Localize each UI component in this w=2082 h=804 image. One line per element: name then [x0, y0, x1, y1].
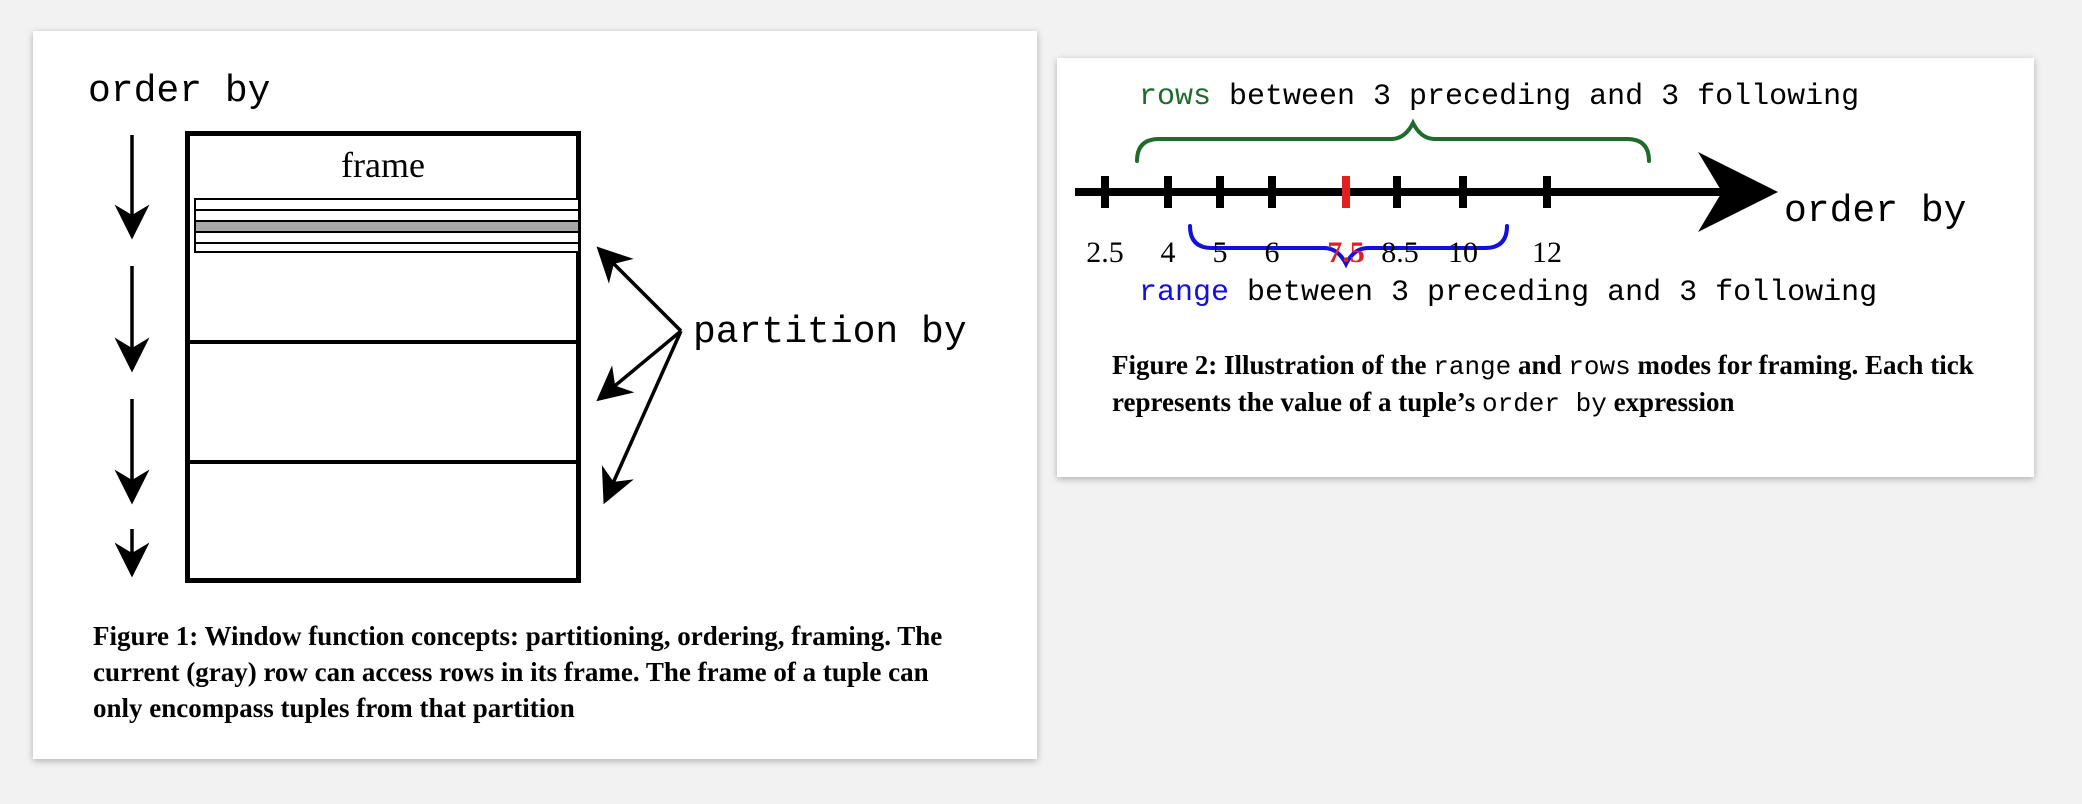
tick-label: 12 [1532, 236, 1562, 270]
partition-by-label: partition by [693, 311, 967, 354]
frame-row [194, 231, 580, 242]
figure1-card: order by frame [33, 31, 1037, 759]
frame-row [194, 198, 580, 209]
frame-row [194, 242, 580, 253]
tick-label: 4 [1161, 236, 1176, 270]
figure2-card: rows between 3 preceding and 3 following… [1057, 58, 2034, 477]
frame-row [194, 209, 580, 220]
caption-text-span: and [1511, 350, 1568, 380]
tick-label-current: 7.5 [1327, 236, 1365, 270]
partition-box: frame [185, 131, 581, 583]
caption-code-span: rows [1568, 352, 1630, 382]
current-row [194, 220, 580, 231]
frame-row-stack [194, 198, 580, 253]
partition-divider [190, 340, 576, 344]
caption-text-span: expression [1607, 387, 1735, 417]
tick-label: 10 [1448, 236, 1478, 270]
figure1-caption: Figure 1: Window function concepts: part… [93, 619, 983, 727]
caption-code-span: order by [1482, 389, 1607, 419]
frame-label: frame [190, 144, 576, 186]
tick-label: 5 [1213, 236, 1228, 270]
tick-label: 2.5 [1086, 236, 1124, 270]
rows-brace [1137, 123, 1649, 161]
caption-text-span: Figure 2: Illustration of the [1112, 350, 1433, 380]
partition-divider [190, 460, 576, 464]
partition-by-arrows [599, 249, 681, 501]
figure2-caption: Figure 2: Illustration of the range and … [1112, 348, 1992, 421]
tick-label: 8.5 [1381, 236, 1419, 270]
caption-code-span: range [1433, 352, 1511, 382]
tick-label: 6 [1265, 236, 1280, 270]
axis-label-order-by: order by [1784, 190, 1966, 233]
